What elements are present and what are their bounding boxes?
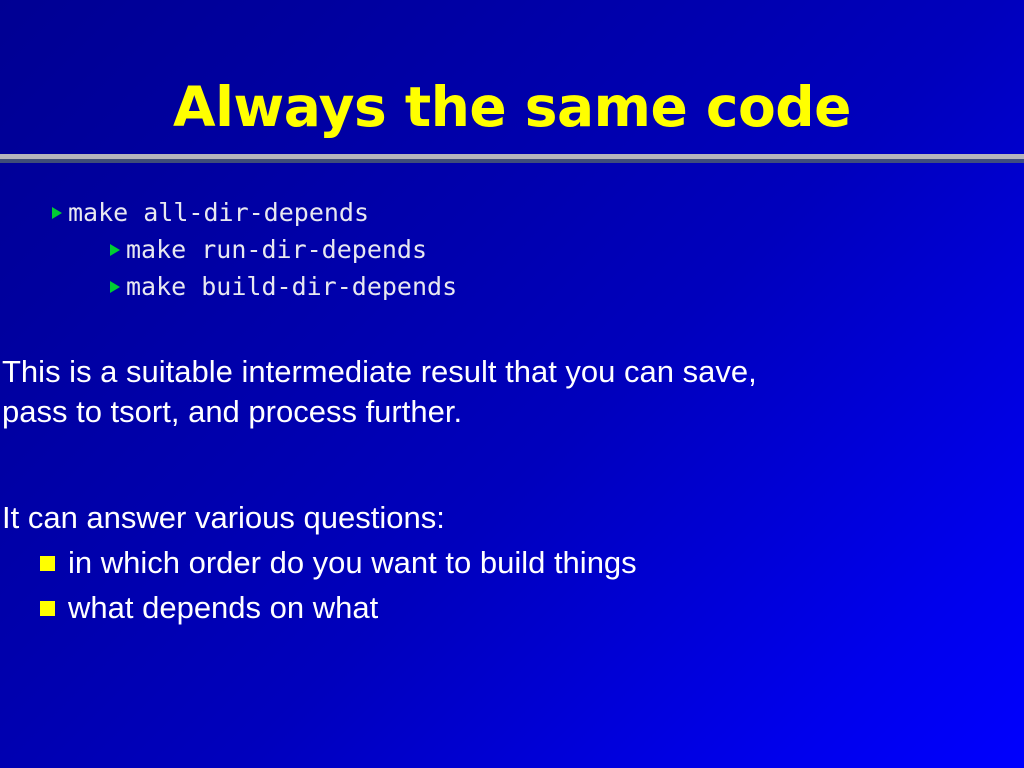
yellow-square-bullet-icon bbox=[40, 601, 55, 616]
list-item: make all-dir-depends bbox=[0, 196, 1024, 233]
yellow-square-bullet-icon bbox=[40, 556, 55, 571]
question-item-label: in which order do you want to build thin… bbox=[68, 542, 637, 584]
list-item: what depends on what bbox=[0, 587, 1024, 632]
green-triangle-bullet-icon bbox=[110, 281, 120, 293]
list-item: make run-dir-depends bbox=[0, 233, 1024, 270]
paragraph-line: pass to tsort, and process further. bbox=[2, 392, 1012, 432]
code-command-text: make all-dir-depends bbox=[68, 196, 369, 230]
body-paragraph-questions-intro: It can answer various questions: bbox=[2, 498, 1012, 538]
question-item-label: what depends on what bbox=[68, 587, 378, 629]
paragraph-line: This is a suitable intermediate result t… bbox=[2, 352, 1012, 392]
green-triangle-bullet-icon bbox=[110, 244, 120, 256]
code-command-text: make run-dir-depends bbox=[126, 233, 427, 267]
paragraph-line: It can answer various questions: bbox=[2, 498, 1012, 538]
slide-canvas: Always the same code make all-dir-depend… bbox=[0, 0, 1024, 768]
green-triangle-bullet-icon bbox=[52, 207, 62, 219]
title-area: Always the same code bbox=[0, 76, 1024, 138]
list-item: in which order do you want to build thin… bbox=[0, 542, 1024, 587]
title-divider bbox=[0, 154, 1024, 164]
code-command-list: make all-dir-depends make run-dir-depend… bbox=[0, 196, 1024, 307]
code-command-text: make build-dir-depends bbox=[126, 270, 457, 304]
divider-dark-bar bbox=[0, 159, 1024, 163]
body-paragraph-intermediate-result: This is a suitable intermediate result t… bbox=[2, 352, 1012, 432]
question-bullet-list: in which order do you want to build thin… bbox=[0, 542, 1024, 632]
list-item: make build-dir-depends bbox=[0, 270, 1024, 307]
page-title: Always the same code bbox=[0, 76, 1024, 138]
